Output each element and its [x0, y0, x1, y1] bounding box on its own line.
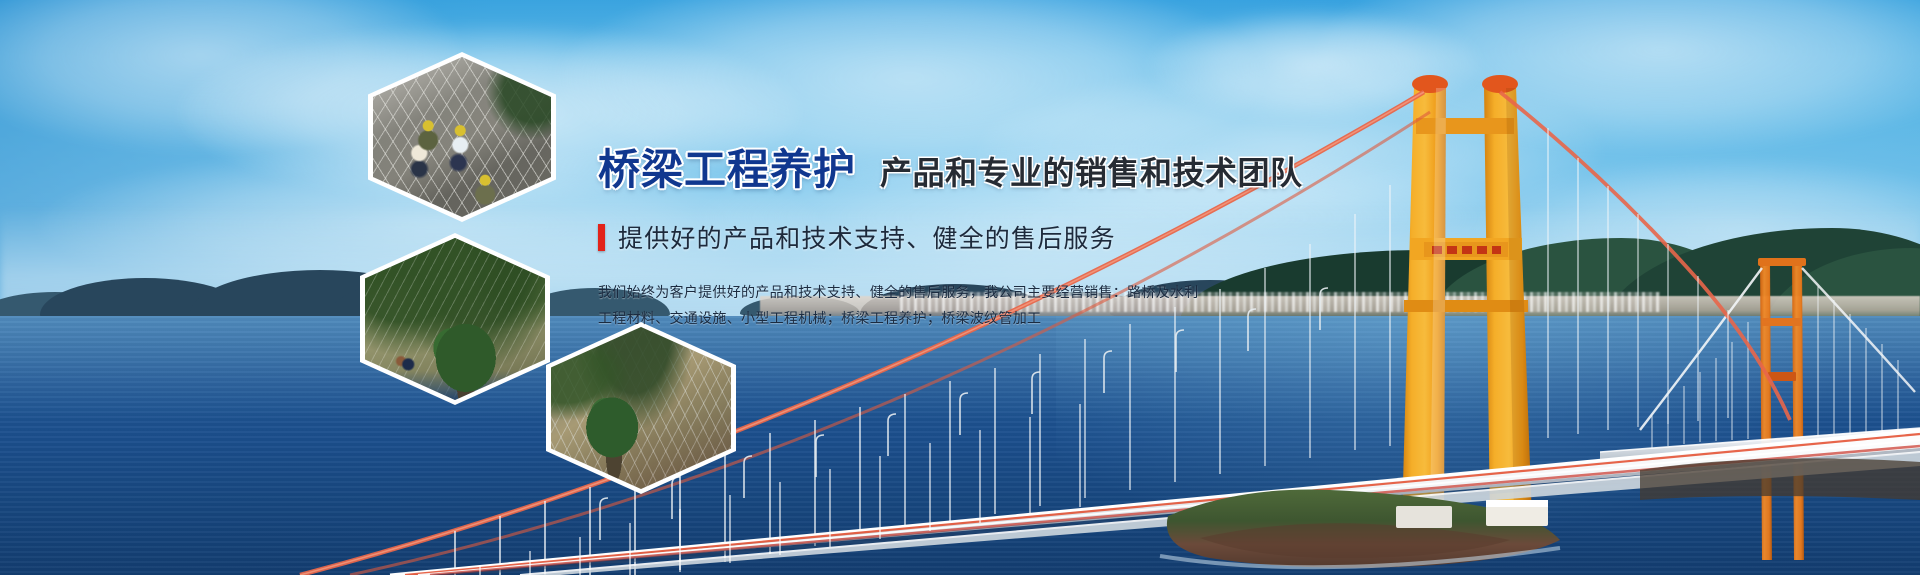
subheadline-row: 提供好的产品和技术支持、健全的售后服务 [598, 219, 1358, 255]
headline-secondary: 产品和专业的销售和技术团队 [880, 148, 1303, 194]
banner-copy-block: 桥梁工程养护 产品和专业的销售和技术团队 提供好的产品和技术支持、健全的售后服务… [598, 136, 1358, 331]
rocky-mesh-slope-image [551, 327, 731, 489]
hex-photo-1-frame [373, 57, 551, 217]
headline-row: 桥梁工程养护 产品和专业的销售和技术团队 [598, 136, 1358, 197]
rock-slope-mesh-workers-image [373, 57, 551, 217]
vegetated-slope-image [365, 238, 545, 400]
headline-primary: 桥梁工程养护 [598, 136, 856, 197]
hex-photo-2-frame [365, 238, 545, 400]
sea-glow [1056, 316, 1920, 575]
subheadline-text: 提供好的产品和技术支持、健全的售后服务 [618, 219, 1116, 255]
hero-banner: 桥梁工程养护 产品和专业的销售和技术团队 提供好的产品和技术支持、健全的售后服务… [0, 0, 1920, 575]
hex-photo-3-frame [551, 327, 731, 489]
description-line-1: 我们始终为客户提供好的产品和技术支持、健全的售后服务，我公司主要经营销售：路桥及… [598, 279, 1358, 305]
red-accent-bar [598, 224, 605, 251]
description-line-2: 工程材料、交通设施、小型工程机械；桥梁工程养护；桥梁波纹管加工 [598, 305, 1358, 331]
sea-background [0, 316, 1920, 575]
description-paragraph: 我们始终为客户提供好的产品和技术支持、健全的售后服务，我公司主要经营销售：路桥及… [598, 279, 1358, 331]
